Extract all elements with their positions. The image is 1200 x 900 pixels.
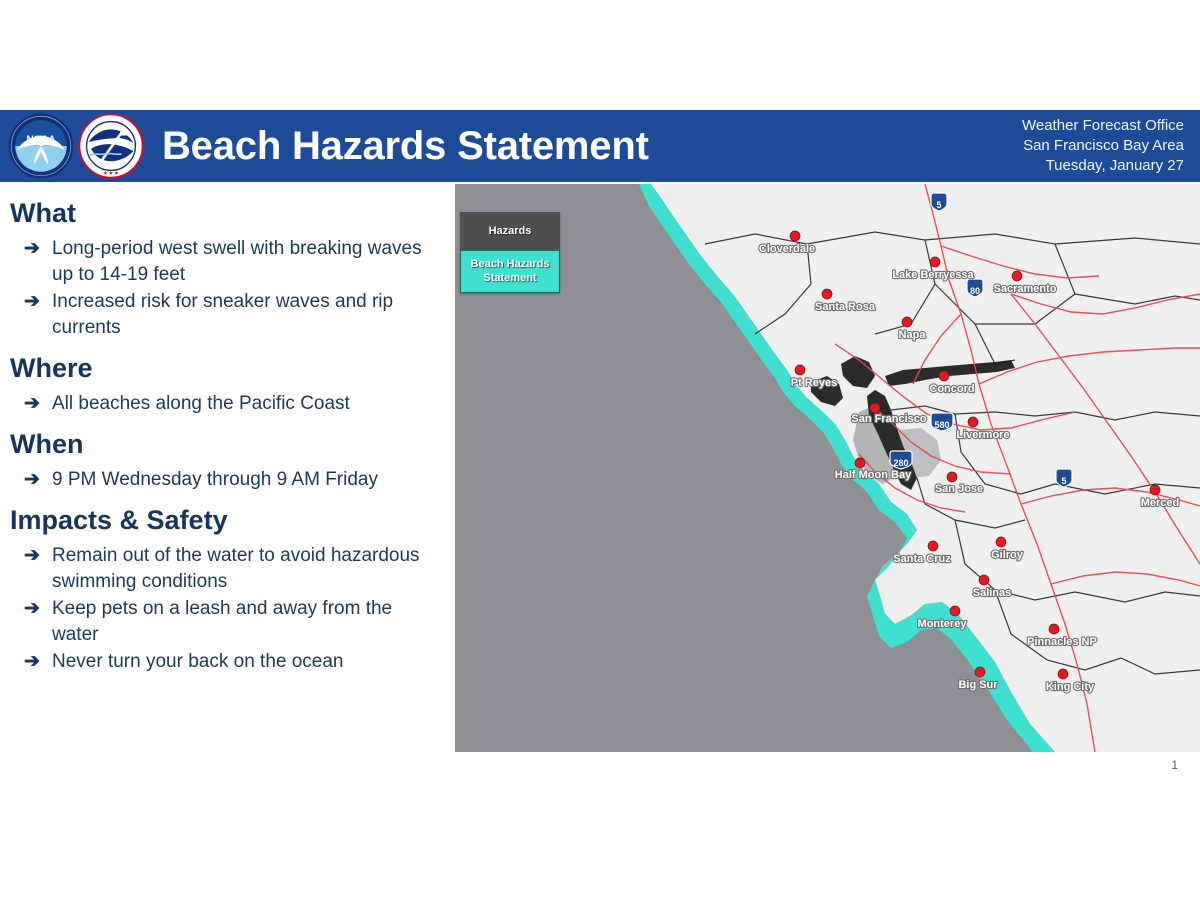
interstate-shield-label: 280 (893, 458, 908, 468)
city-label: San Jose (935, 483, 983, 495)
content-panel: What ➔ Long-period west swell with break… (0, 190, 452, 790)
city-label: Santa Cruz (893, 553, 951, 565)
bullet-list-what: ➔ Long-period west swell with breaking w… (10, 236, 444, 341)
interstate-shield-icon: 5 (1056, 469, 1072, 487)
bullet-text: Never turn your back on the ocean (52, 649, 444, 675)
city-dot-icon (1058, 669, 1068, 679)
city-label: Pinnacles NP (1027, 636, 1097, 648)
list-item: ➔ Remain out of the water to avoid hazar… (10, 543, 444, 595)
bullet-text: All beaches along the Pacific Coast (52, 391, 444, 417)
city-dot-icon (855, 458, 865, 468)
city-dot-icon (870, 403, 880, 413)
list-item: ➔ Increased risk for sneaker waves and r… (10, 289, 444, 341)
legend-header: Hazards (460, 212, 560, 250)
city-dot-icon (790, 231, 800, 241)
city-dot-icon (947, 472, 957, 482)
list-item: ➔ Keep pets on a leash and away from the… (10, 596, 444, 648)
interstate-shield-label: 80 (970, 286, 980, 296)
page-title: Beach Hazards Statement (162, 124, 1022, 169)
city-label: Salinas (973, 587, 1012, 599)
city-label: King City (1046, 681, 1095, 693)
nws-logo-text: ★ ★ ★ (104, 170, 120, 175)
bullet-text: Remain out of the water to avoid hazardo… (52, 543, 444, 595)
city-label: Cloverdale (759, 243, 815, 255)
city-dot-icon (1012, 271, 1022, 281)
city-label: Napa (899, 329, 927, 341)
header-meta: Weather Forecast Office San Francisco Ba… (1022, 116, 1184, 176)
interstate-shield-label: 5 (1061, 476, 1066, 486)
city-label: Monterey (918, 618, 968, 630)
city-label: Half Moon Bay (835, 469, 912, 481)
office-line-2: San Francisco Bay Area (1022, 136, 1184, 156)
city-label: Gilroy (991, 549, 1024, 561)
issue-date: Tuesday, January 27 (1022, 156, 1184, 176)
section-what: What ➔ Long-period west swell with break… (10, 196, 444, 341)
arrow-right-icon: ➔ (10, 649, 52, 675)
city-label: Big Sur (958, 679, 998, 691)
city-dot-icon (795, 365, 805, 375)
city-label: Santa Rosa (815, 301, 876, 313)
list-item: ➔ Long-period west swell with breaking w… (10, 236, 444, 288)
noaa-logo-text: NOAA (26, 135, 55, 146)
section-heading-what: What (10, 196, 444, 230)
city-label: Concord (929, 383, 974, 395)
legend-item-label-line2: Statement (463, 271, 557, 285)
bullet-text: Increased risk for sneaker waves and rip… (52, 289, 444, 341)
city-label: Livermore (956, 429, 1009, 441)
city-label: San Francisco (851, 413, 926, 425)
list-item: ➔ Never turn your back on the ocean (10, 649, 444, 675)
header-banner: NOAA ★ ★ ★ Beach Hazards Statement Weath… (0, 110, 1200, 182)
section-heading-when: When (10, 427, 444, 461)
city-label: Lake Berryessa (892, 269, 974, 281)
interstate-shield-icon: 5 (931, 193, 947, 211)
arrow-right-icon: ➔ (10, 289, 52, 315)
city-dot-icon (1049, 624, 1059, 634)
bullet-text: Keep pets on a leash and away from the w… (52, 596, 444, 648)
section-when: When ➔ 9 PM Wednesday through 9 AM Frida… (10, 427, 444, 493)
list-item: ➔ All beaches along the Pacific Coast (10, 391, 444, 417)
section-impacts-safety: Impacts & Safety ➔ Remain out of the wat… (10, 503, 444, 675)
interstate-shield-icon: 580 (931, 413, 953, 431)
city-dot-icon (928, 541, 938, 551)
office-line-1: Weather Forecast Office (1022, 116, 1184, 136)
bullet-list-when: ➔ 9 PM Wednesday through 9 AM Friday (10, 467, 444, 493)
arrow-right-icon: ➔ (10, 467, 52, 493)
city-dot-icon (930, 257, 940, 267)
city-label: Merced (1141, 497, 1180, 509)
city-dot-icon (902, 317, 912, 327)
city-dot-icon (979, 575, 989, 585)
section-heading-impacts-safety: Impacts & Safety (10, 503, 444, 537)
city-dot-icon (975, 667, 985, 677)
noaa-logo: NOAA (6, 110, 76, 182)
city-dot-icon (822, 289, 832, 299)
city-dot-icon (968, 417, 978, 427)
arrow-right-icon: ➔ (10, 391, 52, 417)
city-dot-icon (950, 606, 960, 616)
hazard-map[interactable]: 5805802805 CloverdaleSanta RosaLake Berr… (455, 184, 1200, 752)
interstate-shield-icon: 280 (890, 451, 912, 469)
city-label: Pt Reyes (791, 377, 837, 389)
interstate-shield-label: 5 (936, 200, 941, 210)
legend-item-beach-hazards-statement[interactable]: Beach Hazards Statement (460, 250, 560, 293)
arrow-right-icon: ➔ (10, 596, 52, 622)
map-legend[interactable]: Hazards Beach Hazards Statement (460, 212, 560, 293)
section-where: Where ➔ All beaches along the Pacific Co… (10, 351, 444, 417)
logo-group: NOAA ★ ★ ★ (6, 110, 146, 182)
bullet-list-where: ➔ All beaches along the Pacific Coast (10, 391, 444, 417)
city-dot-icon (939, 371, 949, 381)
legend-item-label-line1: Beach Hazards (463, 257, 557, 271)
map-svg: 5805802805 CloverdaleSanta RosaLake Berr… (455, 184, 1200, 752)
city-dot-icon (1150, 485, 1160, 495)
bullet-text: 9 PM Wednesday through 9 AM Friday (52, 467, 444, 493)
arrow-right-icon: ➔ (10, 543, 52, 569)
bullet-text: Long-period west swell with breaking wav… (52, 236, 444, 288)
city-label: Sacramento (994, 283, 1057, 295)
interstate-shield-label: 580 (934, 420, 949, 430)
page-number: 1 (1171, 758, 1178, 772)
section-heading-where: Where (10, 351, 444, 385)
interstate-shield-icon: 80 (967, 279, 983, 297)
list-item: ➔ 9 PM Wednesday through 9 AM Friday (10, 467, 444, 493)
arrow-right-icon: ➔ (10, 236, 52, 262)
nws-logo: ★ ★ ★ (76, 110, 146, 182)
city-dot-icon (996, 537, 1006, 547)
bullet-list-impacts-safety: ➔ Remain out of the water to avoid hazar… (10, 543, 444, 675)
